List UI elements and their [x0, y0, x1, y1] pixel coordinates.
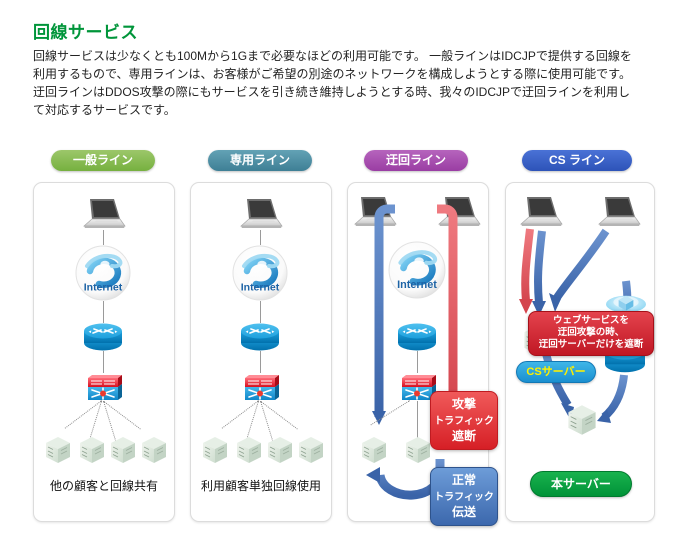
- internet-cloud-icon: [232, 245, 288, 301]
- diagram-page: Internet: [0, 0, 680, 555]
- server-icon: [140, 435, 168, 465]
- badge-main-server[interactable]: 本サーバー: [530, 471, 632, 497]
- panel-caption-general-line: 他の顧客と回線共有: [34, 477, 174, 494]
- internet-cloud-icon: [75, 245, 131, 301]
- link-laptop-cloud: [260, 230, 261, 245]
- callout-line-3: 遮断: [431, 427, 497, 444]
- link-router-switch: [103, 351, 104, 373]
- callout-line-1: 攻撃: [431, 395, 497, 412]
- link-switch-server-4: [103, 401, 140, 429]
- link-cloud-router: [103, 301, 104, 323]
- link-switch-server-2: [417, 401, 418, 439]
- server-icon: [566, 403, 598, 437]
- column-header-general-line[interactable]: 一般ライン: [51, 150, 155, 171]
- server-icon: [266, 435, 294, 465]
- callout-web-service-bypass-block: ウェブサービスを 迂回攻撃の時、 迂回サーバーだけを遮断: [528, 311, 654, 356]
- server-icon: [201, 435, 229, 465]
- callout-line-3: 伝送: [431, 503, 497, 520]
- column-header-cs-line[interactable]: CS ライン: [522, 150, 632, 171]
- page-title: 回線サービス: [33, 18, 138, 43]
- laptop-icon: [236, 197, 286, 229]
- service-cloud-icon: [606, 287, 646, 313]
- callout-line-3: 迂回サーバーだけを遮断: [529, 339, 653, 351]
- server-icon: [44, 435, 72, 465]
- server-icon: [235, 435, 263, 465]
- callout-line-2: トラフィック: [431, 488, 497, 503]
- callout-line-1: 正常: [431, 471, 497, 488]
- callout-line-2: 迂回攻撃の時、: [529, 327, 653, 339]
- callout-normal-traffic-forward: 正常 トラフィック 伝送: [430, 467, 498, 526]
- server-icon: [297, 435, 325, 465]
- server-icon: [109, 435, 137, 465]
- callout-line-2: トラフィック: [431, 412, 497, 427]
- switch-icon: [85, 373, 123, 401]
- internet-cloud-icon: [388, 241, 446, 299]
- router-icon: [241, 323, 279, 351]
- link-laptop-cloud: [103, 230, 104, 245]
- callout-attack-traffic-block: 攻撃 トラフィック 遮断: [430, 391, 498, 450]
- column-header-dedicated-line[interactable]: 専用ライン: [208, 150, 312, 171]
- router-icon: [398, 323, 436, 351]
- page-intro-text: 回線サービスは少なくとも100Mから1Gまで必要なほどの利用可能です。 一般ライ…: [33, 47, 633, 119]
- panel-cs-line: ウェブサービスを 迂回攻撃の時、 迂回サーバーだけを遮断 CSサーバー 本サーバ…: [505, 182, 655, 522]
- laptop-icon: [79, 197, 129, 229]
- panel-general-line: 他の顧客と回線共有: [33, 182, 175, 522]
- server-icon: [78, 435, 106, 465]
- panel-dedicated-line: 利用顧客単独回線使用: [190, 182, 332, 522]
- badge-cs-server[interactable]: CSサーバー: [516, 361, 596, 383]
- router-icon: [84, 323, 122, 351]
- link-switch-server-4: [260, 401, 297, 429]
- panel-bypass-line: 攻撃 トラフィック 遮断 正常 トラフィック 伝送: [347, 182, 489, 522]
- switch-icon: [242, 373, 280, 401]
- column-header-bypass-line[interactable]: 迂回ライン: [364, 150, 468, 171]
- link-router-switch: [417, 351, 418, 373]
- link-router-switch: [260, 351, 261, 373]
- panel-caption-dedicated-line: 利用顧客単独回線使用: [191, 477, 331, 494]
- link-cloud-router: [260, 301, 261, 323]
- callout-line-1: ウェブサービスを: [529, 315, 653, 327]
